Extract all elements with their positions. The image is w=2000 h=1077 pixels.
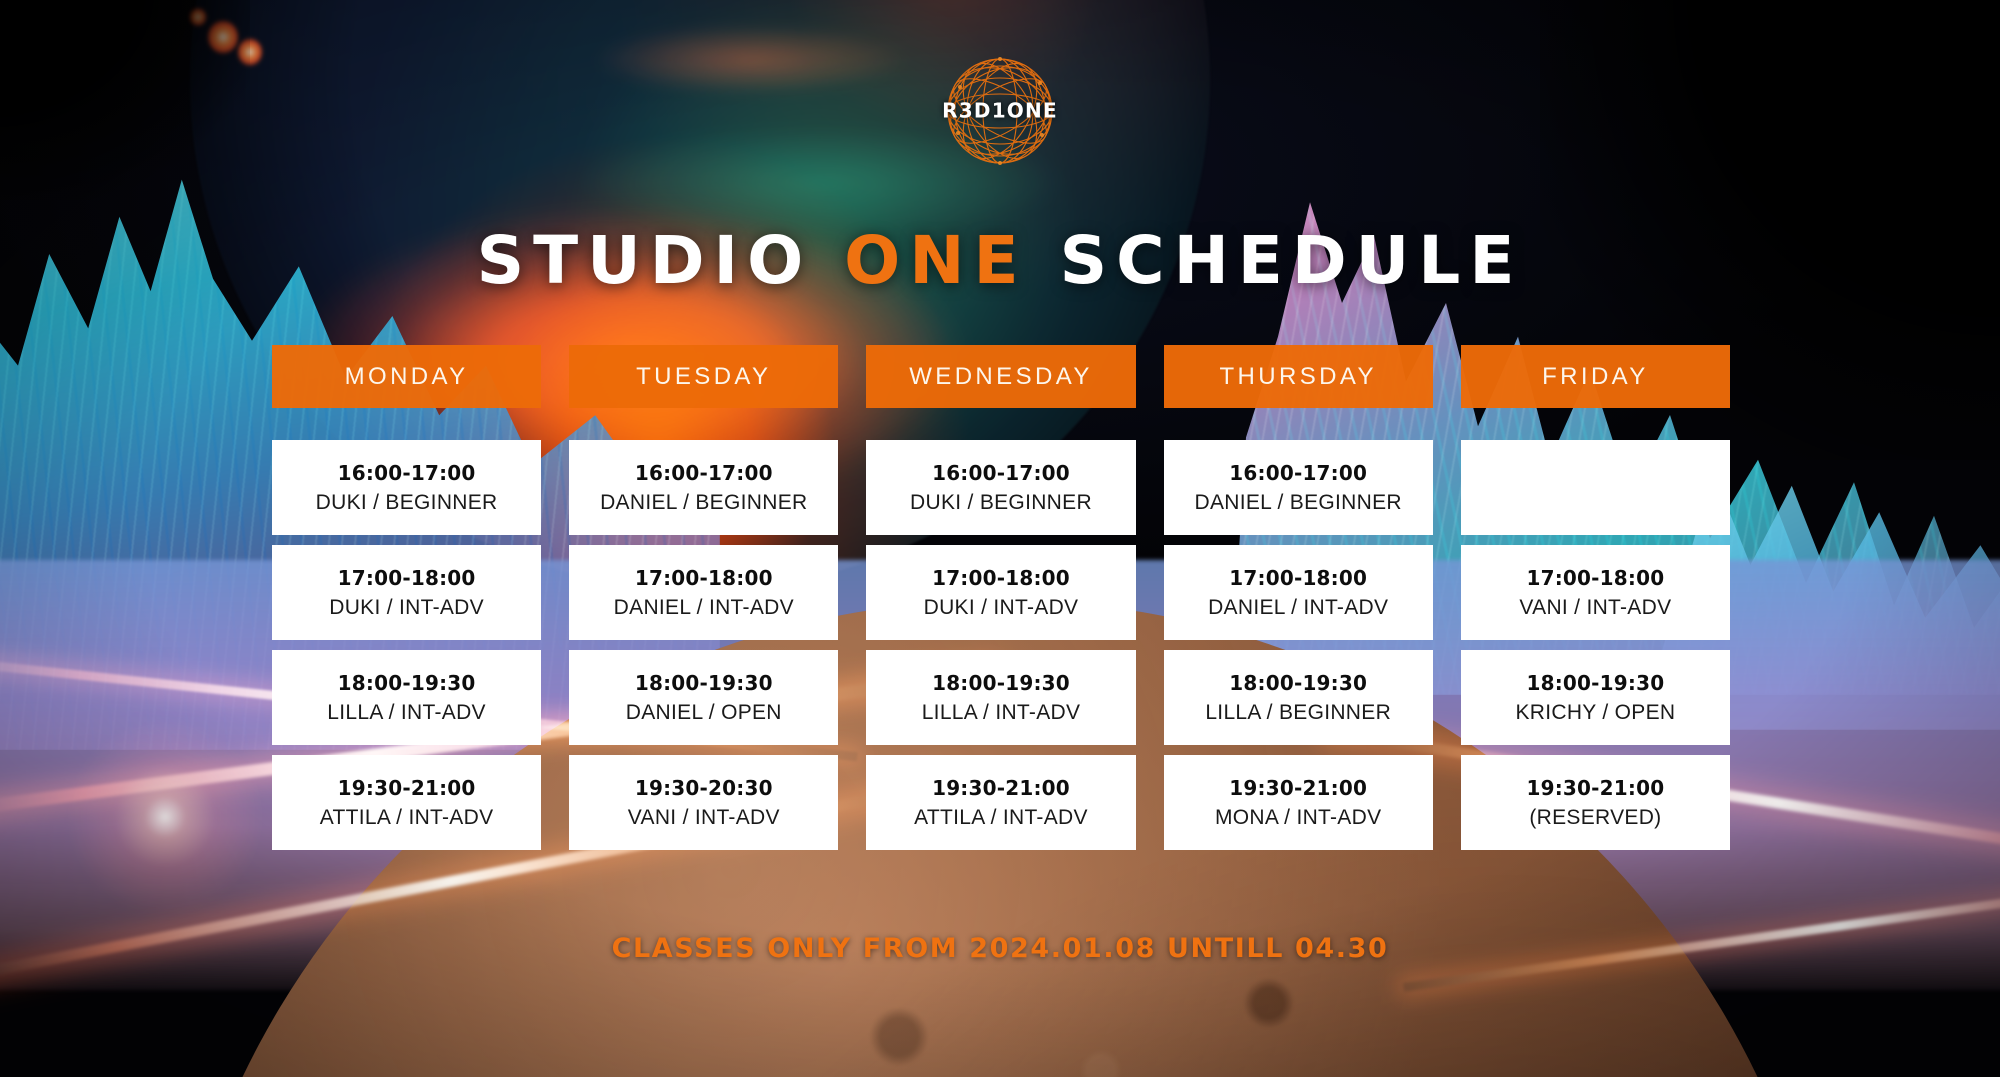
class-time: 18:00-19:30 (1229, 671, 1367, 695)
class-time: 16:00-17:00 (635, 461, 773, 485)
class-time: 17:00-18:00 (1229, 566, 1367, 590)
day-header-tuesday[interactable]: TUESDAY (569, 345, 838, 408)
class-cell-empty[interactable] (1461, 440, 1730, 535)
schedule-grid: MONDAY TUESDAY WEDNESDAY THURSDAY FRIDAY… (272, 345, 1730, 850)
validity-note: CLASSES ONLY FROM 2024.01.08 UNTILL 04.3… (0, 933, 2000, 964)
class-time: 19:30-21:00 (338, 776, 476, 800)
class-time: 16:00-17:00 (338, 461, 476, 485)
class-cell[interactable]: 19:30-21:00 (RESERVED) (1461, 755, 1730, 850)
class-instructor-level: DUKI / BEGINNER (316, 491, 498, 515)
poster-content: R3D1ONE STUDIO ONE SCHEDULE MONDAY TUESD… (0, 0, 2000, 1077)
schedule-row: 16:00-17:00 DUKI / BEGINNER 16:00-17:00 … (272, 440, 1730, 535)
class-time: 19:30-21:00 (932, 776, 1070, 800)
title-part-2: SCHEDULE (1060, 222, 1524, 299)
day-header-wednesday[interactable]: WEDNESDAY (866, 345, 1135, 408)
schedule-row: 19:30-21:00 ATTILA / INT-ADV 19:30-20:30… (272, 755, 1730, 850)
class-cell[interactable]: 17:00-18:00 DANIEL / INT-ADV (1164, 545, 1433, 640)
class-time: 18:00-19:30 (932, 671, 1070, 695)
day-header-row: MONDAY TUESDAY WEDNESDAY THURSDAY FRIDAY (272, 345, 1730, 408)
class-instructor-level: (RESERVED) (1529, 806, 1661, 830)
class-cell[interactable]: 18:00-19:30 LILLA / INT-ADV (866, 650, 1135, 745)
class-time: 19:30-20:30 (635, 776, 773, 800)
title-part-1: STUDIO (477, 222, 813, 299)
class-cell[interactable]: 18:00-19:30 LILLA / BEGINNER (1164, 650, 1433, 745)
day-header-monday[interactable]: MONDAY (272, 345, 541, 408)
schedule-row: 17:00-18:00 DUKI / INT-ADV 17:00-18:00 D… (272, 545, 1730, 640)
class-cell[interactable]: 18:00-19:30 LILLA / INT-ADV (272, 650, 541, 745)
class-cell[interactable]: 17:00-18:00 DANIEL / INT-ADV (569, 545, 838, 640)
class-cell[interactable]: 18:00-19:30 KRICHY / OPEN (1461, 650, 1730, 745)
class-cell[interactable]: 17:00-18:00 VANI / INT-ADV (1461, 545, 1730, 640)
schedule-poster: R3D1ONE STUDIO ONE SCHEDULE MONDAY TUESD… (0, 0, 2000, 1077)
class-cell[interactable]: 19:30-21:00 ATTILA / INT-ADV (272, 755, 541, 850)
class-time: 18:00-19:30 (635, 671, 773, 695)
title-accent-one: ONE (844, 222, 1027, 299)
class-instructor-level: MONA / INT-ADV (1215, 806, 1381, 830)
class-cell[interactable]: 19:30-21:00 MONA / INT-ADV (1164, 755, 1433, 850)
class-time: 17:00-18:00 (932, 566, 1070, 590)
class-instructor-level: KRICHY / OPEN (1515, 701, 1675, 725)
class-instructor-level: DANIEL / BEGINNER (1195, 491, 1402, 515)
class-cell[interactable]: 16:00-17:00 DUKI / BEGINNER (272, 440, 541, 535)
class-instructor-level: DUKI / INT-ADV (924, 596, 1079, 620)
class-time: 17:00-18:00 (1526, 566, 1664, 590)
class-cell[interactable]: 16:00-17:00 DANIEL / BEGINNER (1164, 440, 1433, 535)
class-time: 19:30-21:00 (1229, 776, 1367, 800)
class-instructor-level: DANIEL / OPEN (626, 701, 782, 725)
class-time: 19:30-21:00 (1526, 776, 1664, 800)
class-instructor-level: DUKI / INT-ADV (329, 596, 484, 620)
class-time: 17:00-18:00 (635, 566, 773, 590)
day-header-friday[interactable]: FRIDAY (1461, 345, 1730, 408)
day-header-thursday[interactable]: THURSDAY (1164, 345, 1433, 408)
schedule-row: 18:00-19:30 LILLA / INT-ADV 18:00-19:30 … (272, 650, 1730, 745)
class-time: 16:00-17:00 (1229, 461, 1367, 485)
class-cell[interactable]: 16:00-17:00 DUKI / BEGINNER (866, 440, 1135, 535)
class-instructor-level: LILLA / INT-ADV (327, 701, 486, 725)
class-cell[interactable]: 19:30-20:30 VANI / INT-ADV (569, 755, 838, 850)
class-instructor-level: DANIEL / BEGINNER (600, 491, 807, 515)
class-cell[interactable]: 17:00-18:00 DUKI / INT-ADV (866, 545, 1135, 640)
page-title: STUDIO ONE SCHEDULE (0, 228, 2000, 294)
class-instructor-level: LILLA / BEGINNER (1205, 701, 1391, 725)
class-instructor-level: DANIEL / INT-ADV (1208, 596, 1388, 620)
brand-logo-text: R3D1ONE (936, 99, 1064, 123)
class-time: 18:00-19:30 (1526, 671, 1664, 695)
class-cell[interactable]: 17:00-18:00 DUKI / INT-ADV (272, 545, 541, 640)
class-cell[interactable]: 18:00-19:30 DANIEL / OPEN (569, 650, 838, 745)
class-instructor-level: DANIEL / INT-ADV (614, 596, 794, 620)
class-time: 17:00-18:00 (338, 566, 476, 590)
class-instructor-level: ATTILA / INT-ADV (914, 806, 1088, 830)
class-time: 16:00-17:00 (932, 461, 1070, 485)
class-instructor-level: DUKI / BEGINNER (910, 491, 1092, 515)
class-instructor-level: ATTILA / INT-ADV (320, 806, 494, 830)
brand-logo: R3D1ONE (936, 47, 1064, 175)
class-time: 18:00-19:30 (338, 671, 476, 695)
class-cell[interactable]: 16:00-17:00 DANIEL / BEGINNER (569, 440, 838, 535)
class-cell[interactable]: 19:30-21:00 ATTILA / INT-ADV (866, 755, 1135, 850)
class-instructor-level: VANI / INT-ADV (1519, 596, 1671, 620)
class-instructor-level: LILLA / INT-ADV (922, 701, 1081, 725)
class-instructor-level: VANI / INT-ADV (628, 806, 780, 830)
